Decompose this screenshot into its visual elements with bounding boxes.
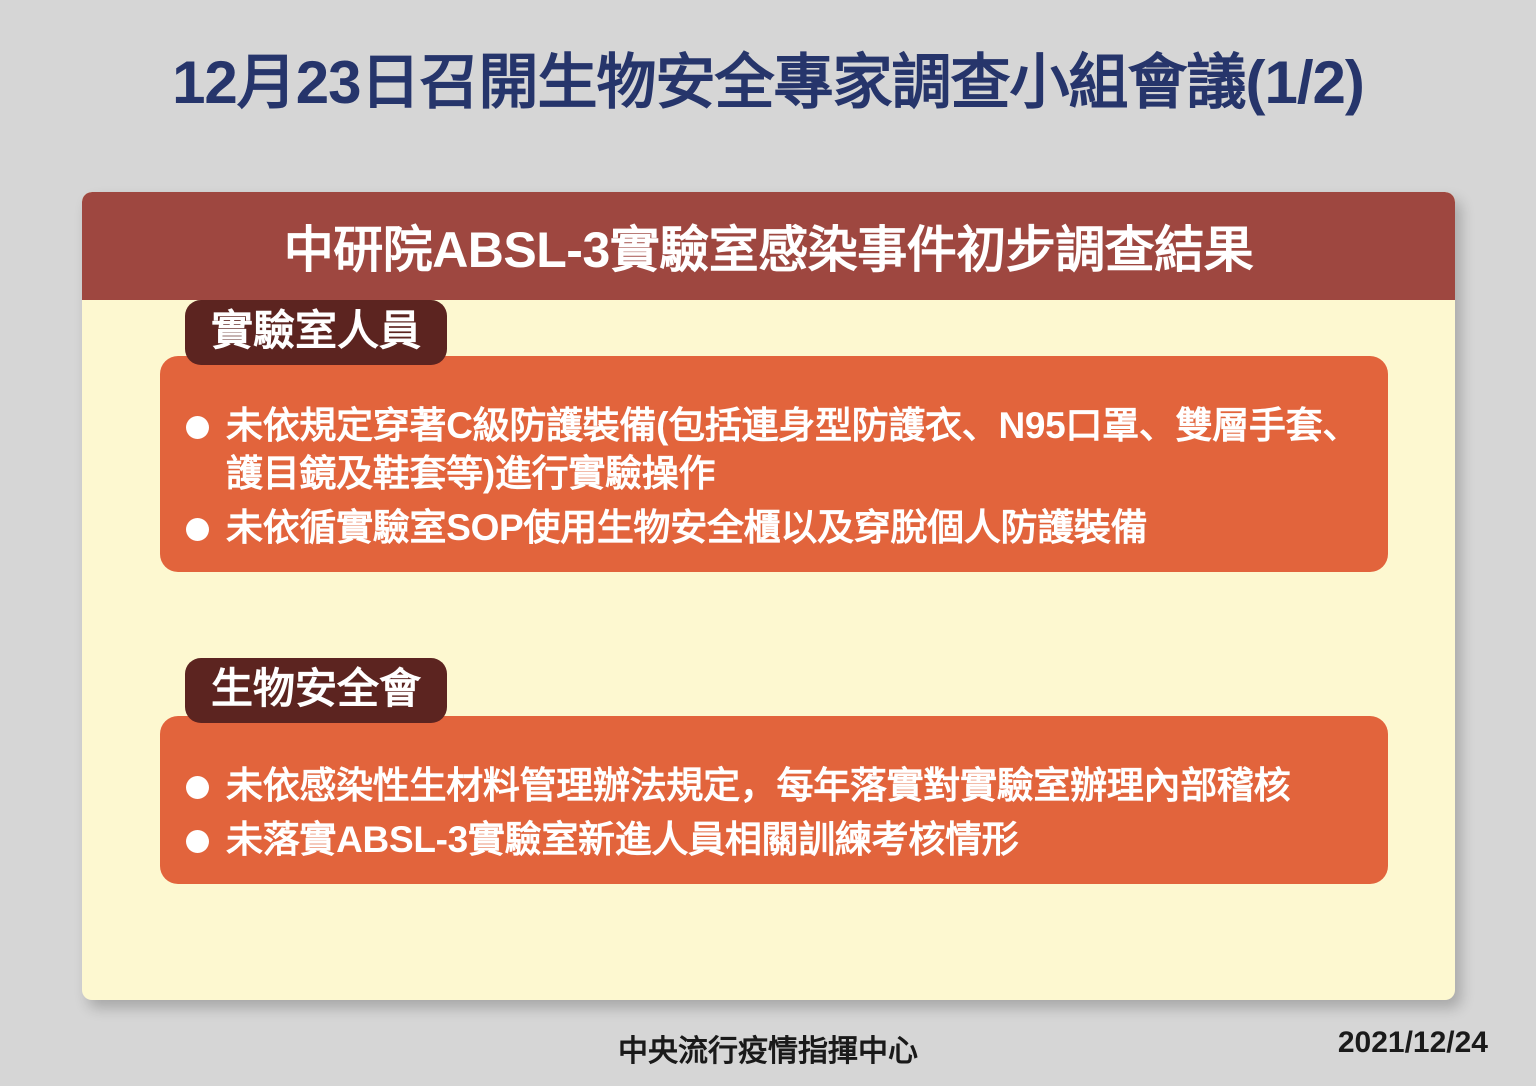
bullet-dot-icon — [186, 776, 209, 799]
section-label-text: 生物安全會 — [211, 665, 421, 712]
section-label-badge: 實驗室人員 — [185, 300, 447, 365]
card-header-bar: 中研院ABSL-3實驗室感染事件初步調查結果 — [82, 192, 1455, 300]
list-item-text: 未依循實驗室SOP使用生物安全櫃以及穿脫個人防護裝備 — [226, 507, 1147, 548]
section-label-text: 實驗室人員 — [211, 307, 421, 354]
list-item-text: 未落實ABSL-3實驗室新進人員相關訓練考核情形 — [226, 819, 1018, 860]
bullet-dot-icon — [186, 416, 209, 439]
bullet-panel: 未依規定穿著C級防護裝備(包括連身型防護衣、N95口罩、雙層手套、護目鏡及鞋套等… — [160, 356, 1388, 572]
footer-organization: 中央流行疫情指揮中心 — [0, 1026, 1536, 1070]
list-item-text: 未依規定穿著C級防護裝備(包括連身型防護衣、N95口罩、雙層手套、護目鏡及鞋套等… — [226, 405, 1359, 494]
footer: 中央流行疫情指揮中心 2021/12/24 — [0, 1026, 1536, 1074]
bullet-panel: 未依感染性生材料管理辦法規定，每年落實對實驗室辦理內部稽核 未落實ABSL-3實… — [160, 716, 1388, 884]
section-label-badge: 生物安全會 — [185, 658, 447, 723]
list-item: 未依感染性生材料管理辦法規定，每年落實對實驗室辦理內部稽核 — [182, 762, 1366, 810]
card-header-title: 中研院ABSL-3實驗室感染事件初步調查結果 — [284, 210, 1254, 282]
bullet-list: 未依感染性生材料管理辦法規定，每年落實對實驗室辦理內部稽核 未落實ABSL-3實… — [182, 762, 1366, 864]
footer-date: 2021/12/24 — [1338, 1026, 1488, 1060]
list-item: 未依循實驗室SOP使用生物安全櫃以及穿脫個人防護裝備 — [182, 504, 1366, 552]
bullet-dot-icon — [186, 830, 209, 853]
bullet-list: 未依規定穿著C級防護裝備(包括連身型防護衣、N95口罩、雙層手套、護目鏡及鞋套等… — [182, 402, 1366, 552]
list-item-text: 未依感染性生材料管理辦法規定，每年落實對實驗室辦理內部稽核 — [226, 765, 1290, 806]
bullet-dot-icon — [186, 518, 209, 541]
list-item: 未落實ABSL-3實驗室新進人員相關訓練考核情形 — [182, 816, 1366, 864]
investigation-result-card: 中研院ABSL-3實驗室感染事件初步調查結果 未依規定穿著C級防護裝備(包括連身… — [82, 192, 1455, 1000]
list-item: 未依規定穿著C級防護裝備(包括連身型防護衣、N95口罩、雙層手套、護目鏡及鞋套等… — [182, 402, 1366, 498]
page-title: 12月23日召開生物安全專家調查小組會議(1/2) — [0, 47, 1536, 119]
